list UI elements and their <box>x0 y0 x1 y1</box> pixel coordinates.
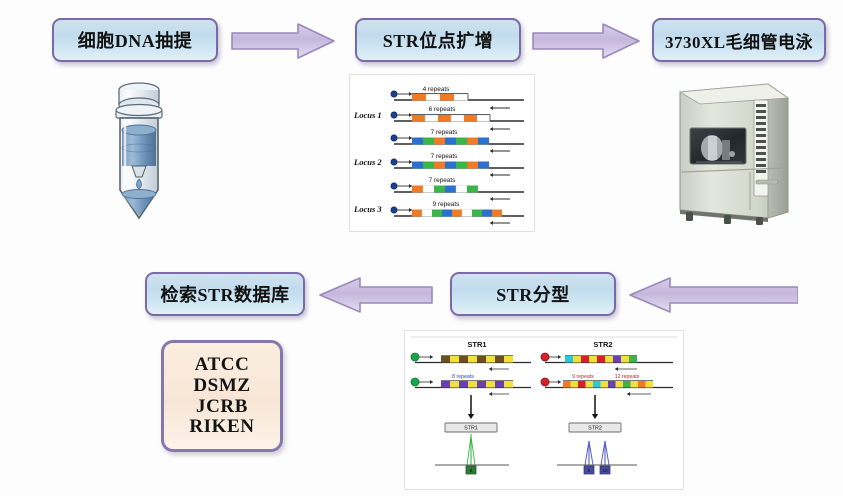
svg-text:6 repeats: 6 repeats <box>429 106 456 113</box>
svg-text:7 repeats: 7 repeats <box>431 129 458 136</box>
workflow-diagram-canvas: 细胞DNA抽提 STR位点扩增 <box>0 0 843 496</box>
svg-text:Locus 3: Locus 3 <box>353 204 382 214</box>
step-box-capillary-electrophoresis[interactable]: 3730XL毛细管电泳 <box>652 18 826 62</box>
step-box-str-typing[interactable]: STR分型 <box>450 272 616 316</box>
svg-text:Locus 2: Locus 2 <box>353 157 382 167</box>
step-label-dna-extraction: 细胞DNA抽提 <box>78 27 193 53</box>
arrow-extraction-to-amplification <box>230 22 336 60</box>
database-item-jcrb: JCRB <box>196 397 248 417</box>
svg-text:12: 12 <box>602 468 608 473</box>
svg-text:9: 9 <box>588 468 591 473</box>
arrow-capillary-to-typing <box>628 276 798 314</box>
svg-text:8: 8 <box>470 468 473 473</box>
arrow-amplification-to-capillary <box>531 22 641 60</box>
svg-text:4 repeats: 4 repeats <box>423 86 450 93</box>
svg-text:STR1: STR1 <box>464 426 478 432</box>
str-database-list-card[interactable]: ATCC DSMZ JCRB RIKEN <box>161 340 283 452</box>
svg-text:7 repeats: 7 repeats <box>431 153 458 160</box>
svg-text:Locus 1: Locus 1 <box>353 110 382 120</box>
step-box-str-amplification[interactable]: STR位点扩增 <box>355 18 521 62</box>
step-box-dna-extraction[interactable]: 细胞DNA抽提 <box>52 18 218 62</box>
svg-text:9 repeats: 9 repeats <box>572 374 594 380</box>
str-electropherogram-diagram: .mkname { font-family: "Liberation Sans"… <box>404 330 684 490</box>
step-label-str-amplification: STR位点扩增 <box>383 27 494 53</box>
step-label-search-str-database: 检索STR数据库 <box>160 281 289 307</box>
svg-text:9 repeats: 9 repeats <box>433 201 460 208</box>
arrow-typing-to-database <box>318 276 434 314</box>
database-item-dsmz: DSMZ <box>193 376 250 396</box>
dna-extraction-spin-column-illustration <box>96 78 182 230</box>
step-label-str-typing: STR分型 <box>496 281 570 307</box>
svg-text:STR1: STR1 <box>467 340 486 349</box>
step-box-search-str-database[interactable]: 检索STR数据库 <box>145 272 305 316</box>
svg-text:8 repeats: 8 repeats <box>452 374 474 380</box>
genetic-analyzer-instrument-photo <box>672 76 798 228</box>
step-label-capillary-electrophoresis: 3730XL毛细管电泳 <box>665 28 813 53</box>
svg-text:STR2: STR2 <box>593 340 612 349</box>
svg-text:12 repeats: 12 repeats <box>615 374 640 380</box>
database-item-riken: RIKEN <box>189 417 254 437</box>
svg-text:7 repeats: 7 repeats <box>429 177 456 184</box>
database-item-atcc: ATCC <box>195 355 250 375</box>
str-locus-repeat-diagram: .lname { font-family: "Liberation Serif"… <box>349 74 535 232</box>
svg-text:STR2: STR2 <box>588 426 602 432</box>
